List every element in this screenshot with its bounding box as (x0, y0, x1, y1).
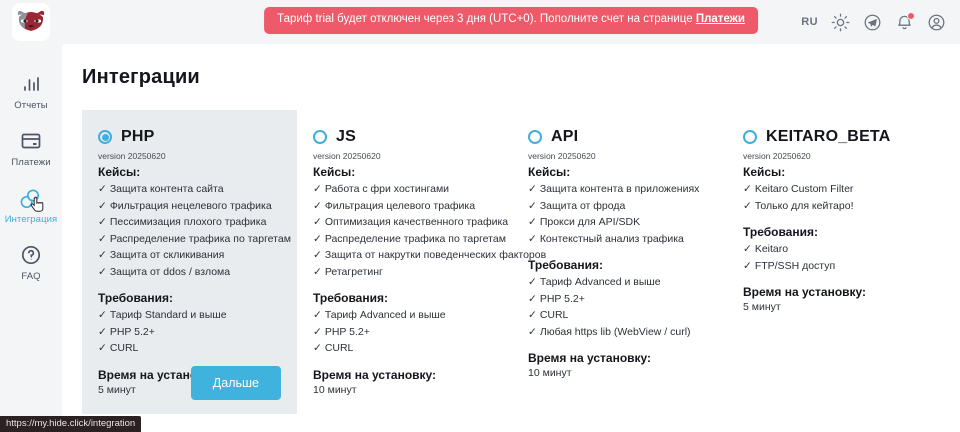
integration-icon (19, 186, 43, 210)
check-icon: ✓ (743, 243, 752, 255)
case-item: ✓Распределение трафика по таргетам (98, 231, 281, 248)
requirement-item: ✓Тариф Advanced и выше (528, 274, 711, 291)
check-icon: ✓ (98, 233, 107, 245)
case-item: ✓Защита контента сайта (98, 181, 281, 198)
browser-status-bar: https://my.hide.click/integration (0, 416, 141, 432)
install-time-value: 10 минут (313, 384, 496, 396)
case-item: ✓Только для кейтаро! (743, 198, 926, 215)
case-item: ✓Защита от накрутки поведенческих фактор… (313, 247, 496, 264)
card-header: KEITARO_BETA (743, 128, 926, 146)
card-version: version 20250620 (313, 151, 496, 161)
card-version: version 20250620 (98, 151, 281, 161)
check-icon: ✓ (528, 309, 537, 321)
account-avatar-icon[interactable] (927, 13, 946, 32)
card-header: JS (313, 128, 496, 146)
check-icon: ✓ (528, 183, 537, 195)
requirement-item: ✓CURL (98, 340, 281, 357)
top-bar: Тариф trial будет отключен через 3 дня (… (62, 0, 960, 44)
cases-heading: Кейсы: (743, 165, 926, 179)
integration-card[interactable]: KEITARO_BETAversion 20250620Кейсы:✓Keita… (727, 110, 942, 414)
case-item: ✓Защита от ddos / взлома (98, 264, 281, 281)
check-icon: ✓ (313, 342, 322, 354)
check-icon: ✓ (313, 249, 322, 261)
case-item: ✓Защита от фрода (528, 198, 711, 215)
sidebar-nav: Отчеты Платежи Интеграция (0, 63, 62, 291)
requirements-heading: Требования: (528, 258, 711, 272)
trial-alert-text: Тариф trial будет отключен через 3 дня (… (277, 13, 696, 25)
case-item: ✓Контекстный анализ трафика (528, 231, 711, 248)
check-icon: ✓ (98, 216, 107, 228)
credit-card-icon (19, 129, 43, 153)
page-title: Интеграции (82, 66, 960, 89)
check-icon: ✓ (743, 183, 752, 195)
case-item: ✓Фильтрация целевого трафика (313, 198, 496, 215)
raccoon-logo-icon (15, 8, 47, 36)
case-item: ✓Фильтрация нецелевого трафика (98, 198, 281, 215)
integration-cards: PHPversion 20250620Кейсы:✓Защита контент… (82, 110, 960, 414)
check-icon: ✓ (313, 266, 322, 278)
sidebar-item-label: FAQ (21, 271, 40, 282)
check-icon: ✓ (313, 233, 322, 245)
card-title: KEITARO_BETA (766, 128, 890, 146)
card-version: version 20250620 (743, 151, 926, 161)
case-item: ✓Защита от скликивания (98, 247, 281, 264)
case-item: ✓Пессимизация плохого трафика (98, 214, 281, 231)
case-item: ✓Ретагретинг (313, 264, 496, 281)
check-icon: ✓ (313, 326, 322, 338)
case-item: ✓Работа с фри хостингами (313, 181, 496, 198)
install-time-heading: Время на установку: (743, 285, 926, 299)
theme-sun-icon[interactable] (831, 13, 850, 32)
telegram-icon[interactable] (863, 13, 882, 32)
trial-alert-banner[interactable]: Тариф trial будет отключен через 3 дня (… (264, 7, 758, 34)
card-title: API (551, 128, 578, 146)
case-item: ✓Оптимизация качественного трафика (313, 214, 496, 231)
check-icon: ✓ (528, 233, 537, 245)
cases-heading: Кейсы: (528, 165, 711, 179)
install-time-value: 10 минут (528, 367, 711, 379)
sidebar-item-label: Отчеты (14, 100, 47, 111)
check-icon: ✓ (528, 276, 537, 288)
install-time-value: 5 минут (743, 301, 926, 313)
check-icon: ✓ (528, 326, 537, 338)
case-item: ✓Распределение трафика по таргетам (313, 231, 496, 248)
notifications-bell-button[interactable] (895, 13, 914, 32)
check-icon: ✓ (313, 183, 322, 195)
radio-button[interactable] (313, 130, 327, 144)
check-icon: ✓ (98, 200, 107, 212)
check-icon: ✓ (313, 216, 322, 228)
card-title: JS (336, 128, 356, 146)
check-icon: ✓ (313, 309, 322, 321)
cases-heading: Кейсы: (313, 165, 496, 179)
raccoon-logo[interactable] (12, 3, 50, 41)
requirements-heading: Требования: (98, 291, 281, 305)
requirements-heading: Требования: (313, 291, 496, 305)
language-switcher[interactable]: RU (801, 16, 818, 28)
requirement-item: ✓Любая https lib (WebView / curl) (528, 324, 711, 341)
check-icon: ✓ (98, 249, 107, 261)
trial-alert-link[interactable]: Платежи (696, 13, 745, 25)
sidebar: Отчеты Платежи Интеграция (0, 0, 62, 432)
case-item: ✓Защита контента в приложениях (528, 181, 711, 198)
requirement-item: ✓PHP 5.2+ (313, 324, 496, 341)
sidebar-item-faq[interactable]: FAQ (0, 234, 62, 291)
content-area: Интеграции PHPversion 20250620Кейсы:✓Защ… (62, 44, 960, 432)
sidebar-item-integraciya[interactable]: Интеграция (0, 177, 62, 234)
check-icon: ✓ (528, 293, 537, 305)
integration-card[interactable]: PHPversion 20250620Кейсы:✓Защита контент… (82, 110, 297, 414)
check-icon: ✓ (98, 266, 107, 278)
question-circle-icon (19, 243, 43, 267)
check-icon: ✓ (98, 326, 107, 338)
requirement-item: ✓Тариф Advanced и выше (313, 307, 496, 324)
requirement-item: ✓Тариф Standard и выше (98, 307, 281, 324)
card-version: version 20250620 (528, 151, 711, 161)
requirements-heading: Требования: (743, 225, 926, 239)
check-icon: ✓ (743, 260, 752, 272)
requirement-item: ✓FTP/SSH доступ (743, 258, 926, 275)
check-icon: ✓ (313, 200, 322, 212)
requirement-item: ✓CURL (313, 340, 496, 357)
radio-button[interactable] (743, 130, 757, 144)
check-icon: ✓ (528, 216, 537, 228)
requirement-item: ✓CURL (528, 307, 711, 324)
check-icon: ✓ (98, 183, 107, 195)
card-header: API (528, 128, 711, 146)
sidebar-item-platezhi[interactable]: Платежи (0, 120, 62, 177)
sidebar-item-label: Платежи (11, 157, 50, 168)
card-title: PHP (121, 128, 155, 146)
requirement-item: ✓PHP 5.2+ (528, 291, 711, 308)
sidebar-item-otchety[interactable]: Отчеты (0, 63, 62, 120)
notification-badge-dot (907, 12, 915, 20)
integration-card[interactable]: APIversion 20250620Кейсы:✓Защита контент… (512, 110, 727, 414)
install-time-heading: Время на установку: (528, 351, 711, 365)
requirement-item: ✓PHP 5.2+ (98, 324, 281, 341)
requirement-item: ✓Keitaro (743, 241, 926, 258)
app-window: Отчеты Платежи Интеграция (0, 0, 960, 432)
radio-button[interactable] (98, 130, 112, 144)
bar-chart-icon (19, 72, 43, 96)
card-header: PHP (98, 128, 281, 146)
check-icon: ✓ (743, 200, 752, 212)
case-item: ✓Прокси для API/SDK (528, 214, 711, 231)
install-time-heading: Время на установку: (313, 368, 496, 382)
case-item: ✓Keitaro Custom Filter (743, 181, 926, 198)
check-icon: ✓ (528, 200, 537, 212)
sidebar-item-label: Интеграция (5, 214, 58, 225)
check-icon: ✓ (98, 309, 107, 321)
integration-card[interactable]: JSversion 20250620Кейсы:✓Работа с фри хо… (297, 110, 512, 414)
cases-heading: Кейсы: (98, 165, 281, 179)
radio-button[interactable] (528, 130, 542, 144)
check-icon: ✓ (98, 342, 107, 354)
next-button[interactable]: Дальше (191, 366, 281, 400)
